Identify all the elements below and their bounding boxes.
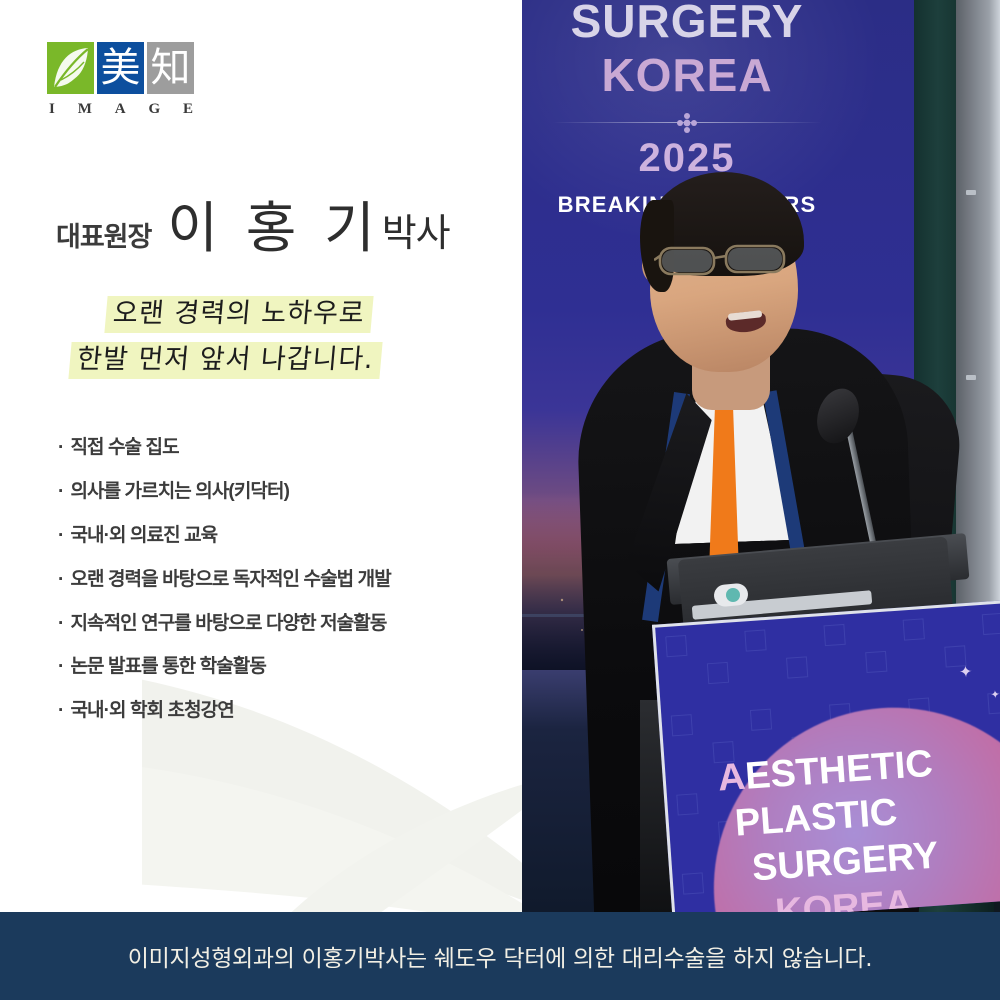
backdrop-title-korea: KOREA xyxy=(522,48,852,102)
sparkle-icon: ✦ xyxy=(958,662,973,683)
doctor-suffix: 박사 xyxy=(382,215,450,256)
bullet-icon: · xyxy=(58,526,63,547)
brand-logo[interactable]: 美 知 I M A G E xyxy=(47,42,195,118)
leaf-icon xyxy=(47,42,94,94)
logo-squares: 美 知 xyxy=(47,42,195,94)
list-item: · 오랜 경력을 바탕으로 독자적인 수술법 개발 xyxy=(58,570,498,591)
backdrop-ornament-icon xyxy=(674,110,700,136)
list-item-label: 의사를 가르치는 의사(키닥터) xyxy=(70,482,289,503)
slogan-line-2: 한발 먼저 앞서 나갑니다. xyxy=(68,342,382,379)
logo-char-mi: 美 xyxy=(97,42,144,94)
wall-seam xyxy=(966,190,976,195)
sparkle-icon: ✦ xyxy=(990,688,1000,702)
list-item: · 직접 수술 집도 xyxy=(58,438,498,459)
list-item-label: 오랜 경력을 바탕으로 독자적인 수술법 개발 xyxy=(70,570,390,591)
bullet-icon: · xyxy=(58,570,63,591)
wordmark-letter-g: G xyxy=(148,101,160,118)
slogan-block: 오랜 경력의 노하우로 한발 먼저 앞서 나갑니다. xyxy=(62,296,462,379)
wordmark-letter-m: M xyxy=(78,101,92,118)
logo-char-square-ji: 知 xyxy=(147,42,194,94)
list-item: · 국내·외 학회 초청강연 xyxy=(58,701,498,722)
list-item: · 국내·외 의료진 교육 xyxy=(58,526,498,547)
credentials-list: · 직접 수술 집도 · 의사를 가르치는 의사(키닥터) · 국내·외 의료진… xyxy=(58,438,498,745)
disclaimer-text: 이미지성형외과의 이홍기박사는 쉐도우 닥터에 의한 대리수술을 하지 않습니다… xyxy=(128,939,872,973)
list-item-label: 논문 발표를 통한 학술활동 xyxy=(70,657,266,678)
podium-sign: ✦ ✦ AESTHETIC PLASTIC SURGERY KOREA xyxy=(652,600,1000,912)
list-item-label: 국내·외 의료진 교육 xyxy=(70,526,217,547)
bullet-icon: · xyxy=(58,482,63,503)
list-item-label: 직접 수술 집도 xyxy=(70,438,178,459)
logo-char-square-mi: 美 xyxy=(97,42,144,94)
wordmark-letter-e: E xyxy=(183,101,193,118)
promo-card: 美 知 I M A G E 대표원장 이 홍 기 박사 오랜 경력의 노하우로 xyxy=(0,0,1000,1000)
doctor-title: 대표원장 이 홍 기 박사 xyxy=(56,186,486,256)
bullet-icon: · xyxy=(58,657,63,678)
speaker-photo: SURGERY KOREA 2025 BREAKING BARRIERS 40 … xyxy=(522,0,1000,912)
wordmark-letter-a: A xyxy=(115,101,126,118)
logo-char-ji: 知 xyxy=(147,42,194,94)
logo-leaf-square xyxy=(47,42,94,94)
eyeglasses-icon xyxy=(654,240,804,280)
backdrop-title-surgery: SURGERY xyxy=(522,0,852,48)
wall-seam xyxy=(966,375,976,380)
left-content-panel: 美 知 I M A G E 대표원장 이 홍 기 박사 오랜 경력의 노하우로 xyxy=(0,0,522,912)
device-indicator-light xyxy=(726,588,740,602)
wordmark-letter-i: I xyxy=(49,101,55,118)
list-item: · 지속적인 연구를 바탕으로 다양한 저술활동 xyxy=(58,614,498,635)
sign-line-1-initial: A xyxy=(716,756,746,800)
slogan-line-1: 오랜 경력의 노하우로 xyxy=(104,296,373,333)
doctor-name: 이 홍 기 xyxy=(167,201,381,256)
bullet-icon: · xyxy=(58,438,63,459)
disclaimer-banner: 이미지성형외과의 이홍기박사는 쉐도우 닥터에 의한 대리수술을 하지 않습니다… xyxy=(0,912,1000,1000)
list-item-label: 국내·외 학회 초청강연 xyxy=(70,701,233,722)
list-item: · 논문 발표를 통한 학술활동 xyxy=(58,657,498,678)
bullet-icon: · xyxy=(58,614,63,635)
logo-wordmark: I M A G E xyxy=(47,101,195,118)
list-item: · 의사를 가르치는 의사(키닥터) xyxy=(58,482,498,503)
bullet-icon: · xyxy=(58,701,63,722)
doctor-role: 대표원장 xyxy=(56,224,151,256)
list-item-label: 지속적인 연구를 바탕으로 다양한 저술활동 xyxy=(70,614,386,635)
backdrop-year: 2025 xyxy=(522,136,852,181)
